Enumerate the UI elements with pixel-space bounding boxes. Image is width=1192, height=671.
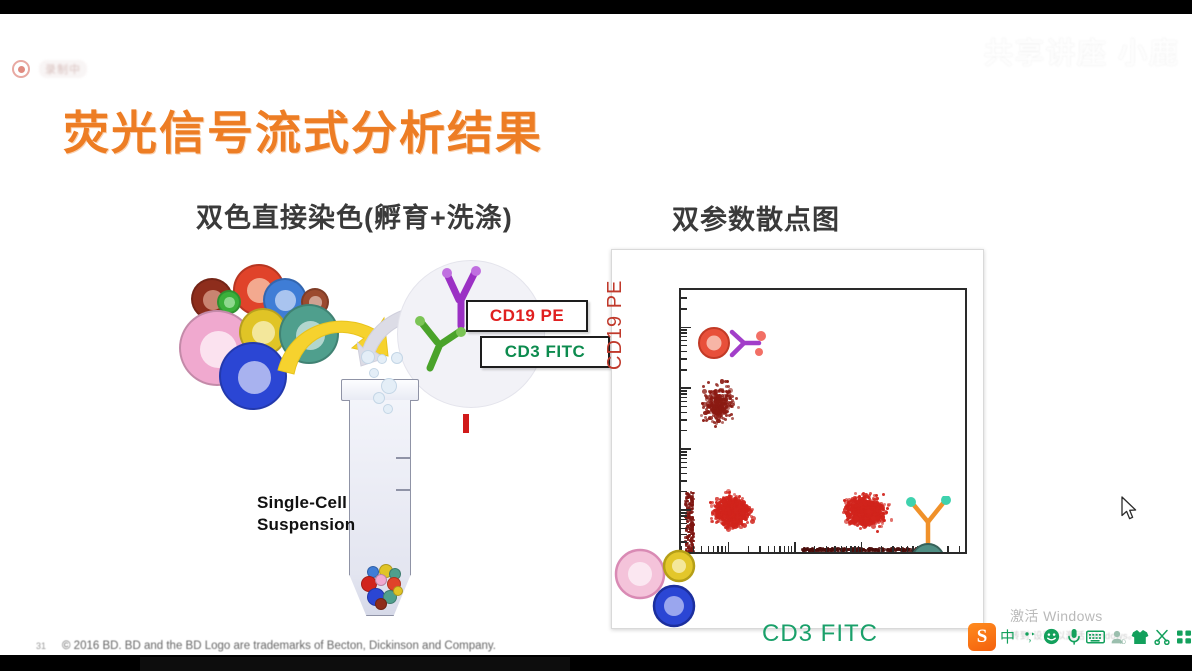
- user-account-button[interactable]: ID: [1107, 624, 1128, 650]
- svg-text:ID: ID: [1120, 640, 1126, 645]
- x-tick: [794, 542, 796, 552]
- plot-area: 102103104105102103104105: [679, 288, 967, 554]
- scissors-icon: [1154, 629, 1170, 645]
- x-tick: [814, 546, 815, 552]
- cell-nucleus: [224, 297, 234, 307]
- record-dot-icon: [12, 60, 30, 78]
- sogou-logo-icon[interactable]: S: [968, 623, 996, 651]
- recording-label: 录制中: [39, 60, 87, 78]
- scatter-plot-panel: CD19 PE CD3 FITC 10210310410510210310410…: [611, 249, 984, 629]
- x-tick: [759, 546, 760, 552]
- mouse-pointer: [1120, 496, 1138, 522]
- x-tick: [784, 546, 785, 552]
- page-title: 荧光信号流式分析结果: [63, 97, 543, 163]
- x-tick: [728, 542, 730, 552]
- corner-cell-illustration: [612, 546, 722, 628]
- tube-cell-pellet: [353, 564, 409, 610]
- tube-graduation: [396, 457, 410, 459]
- droplet-icon: [381, 378, 397, 394]
- y-tick: [681, 297, 687, 298]
- cell-icon: [393, 586, 403, 596]
- punctuation-mode-button[interactable]: [1019, 624, 1040, 650]
- y-tick: [681, 480, 687, 481]
- fitc-labeled-t-cell-icon: [897, 496, 959, 554]
- sogou-ime-toolbar[interactable]: S 中: [966, 620, 1192, 653]
- cell-nucleus: [238, 361, 271, 394]
- y-tick-label: 104: [679, 387, 683, 403]
- label-cd19-pe: CD19 PE: [466, 300, 588, 332]
- y-tick: [681, 351, 687, 352]
- x-tick: [959, 546, 960, 552]
- x-tick: [779, 546, 780, 552]
- y-tick: [681, 412, 687, 413]
- y-tick-label: 102: [679, 509, 683, 525]
- section-heading-staining: 双色直接染色(孵育+洗涤): [196, 196, 513, 235]
- x-tick: [850, 546, 851, 552]
- y-tick: [681, 528, 687, 529]
- y-tick: [681, 369, 687, 370]
- staining-workflow-illustration: CD19 PE CD3 FITC Single-CellSuspension: [175, 242, 605, 642]
- droplet-icon: [373, 392, 385, 404]
- letterbox-top: [0, 0, 1192, 14]
- x-tick: [834, 546, 835, 552]
- axis-label-y: CD19 PE: [604, 280, 627, 370]
- apps-grid-icon: [1176, 629, 1192, 645]
- person-icon: ID: [1110, 629, 1126, 645]
- tube-graduation: [396, 489, 410, 491]
- x-tick: [858, 546, 859, 552]
- section-heading-scatter: 双参数散点图: [672, 198, 840, 237]
- axis-label-x: CD3 FITC: [762, 620, 878, 648]
- y-tick-label: 105: [679, 327, 683, 343]
- droplet-icon: [383, 404, 393, 414]
- y-tick: [681, 467, 687, 468]
- cell-icon: [375, 574, 387, 586]
- y-tick: [681, 345, 687, 346]
- x-tick: [788, 546, 789, 552]
- red-marker: [463, 414, 469, 433]
- footer-trademark: © 2016 BD. BD and the BD Logo are tradem…: [62, 640, 496, 652]
- x-tick: [826, 546, 827, 552]
- x-tick: [846, 546, 847, 552]
- droplet-icon: [361, 350, 375, 364]
- label-single-cell-suspension: Single-CellSuspension: [257, 492, 355, 537]
- cell-icon: [375, 598, 387, 610]
- label-cd3-fitc: CD3 FITC: [480, 336, 610, 368]
- y-tick: [681, 534, 687, 535]
- x-tick: [774, 546, 775, 552]
- y-tick: [681, 406, 687, 407]
- skin-center-button[interactable]: [1129, 624, 1150, 650]
- screen: 录制中 共享讲座 小鹿 荧光信号流式分析结果 双色直接染色(孵育+洗涤) 双参数…: [0, 0, 1192, 671]
- language-mode-button[interactable]: 中: [997, 624, 1018, 650]
- toolbox-button[interactable]: [1173, 624, 1192, 650]
- keyboard-icon: [1086, 630, 1105, 644]
- droplet-illustration: [343, 350, 423, 430]
- y-tick-label: 103: [679, 448, 683, 464]
- x-tick: [768, 546, 769, 552]
- x-tick: [881, 546, 882, 552]
- x-tick: [748, 546, 749, 552]
- y-tick: [681, 308, 687, 309]
- x-tick: [854, 546, 855, 552]
- y-tick: [681, 541, 687, 542]
- bottom-dark-strip: [140, 657, 570, 671]
- shirt-icon: [1131, 629, 1149, 645]
- presentation-slide: 录制中 共享讲座 小鹿 荧光信号流式分析结果 双色直接染色(孵育+洗涤) 双参数…: [0, 14, 1192, 655]
- soft-keyboard-button[interactable]: [1085, 624, 1106, 650]
- y-tick: [681, 419, 687, 420]
- x-tick: [841, 546, 842, 552]
- slide-number: 31: [36, 641, 46, 651]
- y-tick: [681, 473, 687, 474]
- screenshot-tool-button[interactable]: [1151, 624, 1172, 650]
- y-tick: [681, 430, 687, 431]
- x-tick: [725, 546, 726, 552]
- x-tick: [861, 542, 863, 552]
- y-tick: [681, 358, 687, 359]
- x-tick: [892, 546, 893, 552]
- smiley-icon: [1043, 628, 1060, 645]
- punctuation-icon: [1022, 630, 1038, 644]
- channel-watermark: 共享讲座 小鹿: [984, 30, 1180, 72]
- recording-badge[interactable]: 录制中: [12, 60, 87, 78]
- droplet-icon: [369, 368, 379, 378]
- microphone-icon: [1066, 628, 1082, 646]
- pe-labeled-b-cell-icon: [697, 318, 775, 368]
- y-tick: [681, 491, 687, 492]
- x-tick: [791, 546, 792, 552]
- droplet-icon: [391, 352, 403, 364]
- voice-input-button[interactable]: [1063, 624, 1084, 650]
- emoji-panel-button[interactable]: [1041, 624, 1062, 650]
- droplet-icon: [377, 354, 387, 364]
